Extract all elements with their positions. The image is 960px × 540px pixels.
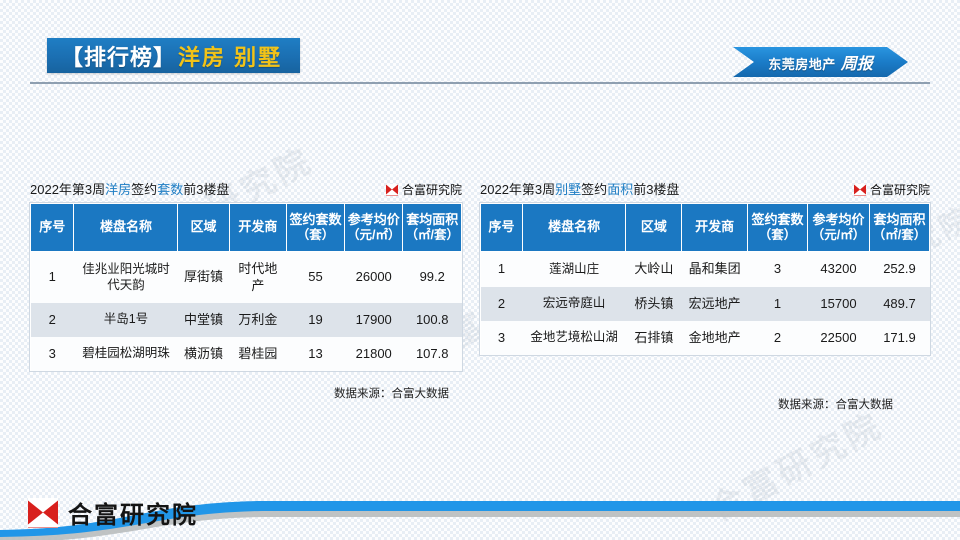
right-brand-mark: 合富研究院 [854,181,930,198]
cell-area: 大岭山 [626,252,682,287]
col-header-price: 参考均价（元/㎡） [344,204,402,252]
left-brand-label: 合富研究院 [402,181,462,198]
page-title-bracket: 【排行榜】 [61,40,176,72]
col-header-area: 区域 [178,204,229,252]
col-header-no: 序号 [481,204,523,252]
badge-cursive-label: 周报 [841,56,873,73]
right-ranking-block: 2022年第3周别墅签约面积前3楼盘 合富研究院 序号 楼盘名称 区域 开发商 … [480,178,930,355]
cell-deals: 1 [748,287,808,321]
col-header-avgsize: 套均面积（㎡/套） [869,204,929,252]
cell-developer: 时代地产 [229,252,286,303]
footer-brand-label: 合富研究院 [68,495,198,530]
slide-title-plate: 【排行榜】 洋房 别墅 [47,38,300,73]
cell-avgsize: 171.9 [869,321,929,355]
cell-price: 21800 [344,337,402,371]
cell-project: 佳兆业阳光城时代天韵 [74,252,178,303]
cell-no: 2 [481,287,523,321]
cell-project: 宏远帝庭山 [522,287,626,321]
table-row: 3 金地艺境松山湖 石排镇 金地地产 2 22500 171.9 [481,321,930,355]
cell-area: 厚街镇 [178,252,229,303]
cell-deals: 13 [287,337,345,371]
cell-deals: 2 [748,321,808,355]
col-header-price: 参考均价（元/㎡） [808,204,870,252]
cell-avgsize: 252.9 [869,252,929,287]
col-header-project: 楼盘名称 [522,204,626,252]
cell-no: 3 [481,321,523,355]
cell-no: 1 [31,252,74,303]
right-table-caption: 2022年第3周别墅签约面积前3楼盘 [480,179,679,198]
left-ranking-block: 2022年第3周洋房签约套数前3楼盘 合富研究院 序号 楼盘名称 区域 开发商 … [30,178,462,371]
cell-avgsize: 100.8 [403,303,462,337]
col-header-area: 区域 [626,204,682,252]
table-header-row: 序号 楼盘名称 区域 开发商 签约套数（套） 参考均价（元/㎡） 套均面积（㎡/… [481,204,930,252]
col-header-deals: 签约套数（套） [748,204,808,252]
table-row: 2 半岛1号 中堂镇 万利金 19 17900 100.8 [31,303,462,337]
cell-area: 横沥镇 [178,337,229,371]
right-block-header: 2022年第3周别墅签约面积前3楼盘 合富研究院 [480,178,930,198]
cell-area: 石排镇 [626,321,682,355]
cell-project: 莲湖山庄 [522,252,626,287]
table-header-row: 序号 楼盘名称 区域 开发商 签约套数（套） 参考均价（元/㎡） 套均面积（㎡/… [31,204,462,252]
cell-area: 桥头镇 [626,287,682,321]
col-header-project: 楼盘名称 [74,204,178,252]
left-table-caption: 2022年第3周洋房签约套数前3楼盘 [30,179,229,198]
publication-badge: 东莞房地产周报 [733,47,908,77]
cell-avgsize: 99.2 [403,252,462,303]
cell-project: 金地艺境松山湖 [522,321,626,355]
right-brand-label: 合富研究院 [870,181,930,198]
page-title-types: 洋房 别墅 [178,40,282,72]
col-header-developer: 开发商 [229,204,286,252]
left-block-header: 2022年第3周洋房签约套数前3楼盘 合富研究院 [30,178,462,198]
cell-price: 17900 [344,303,402,337]
cell-developer: 金地地产 [682,321,748,355]
col-header-avgsize: 套均面积（㎡/套） [403,204,462,252]
cell-project: 碧桂园松湖明珠 [74,337,178,371]
right-ranking-table: 序号 楼盘名称 区域 开发商 签约套数（套） 参考均价（元/㎡） 套均面积（㎡/… [480,203,930,355]
cell-price: 43200 [808,252,870,287]
table-row: 2 宏远帝庭山 桥头镇 宏远地产 1 15700 489.7 [481,287,930,321]
chevron-banner-shape: 东莞房地产周报 [733,47,908,77]
cell-deals: 3 [748,252,808,287]
cell-deals: 19 [287,303,345,337]
col-header-deals: 签约套数（套） [287,204,345,252]
cell-no: 3 [31,337,74,371]
cell-avgsize: 489.7 [869,287,929,321]
hopefluent-bowtie-icon [28,498,58,528]
col-header-no: 序号 [31,204,74,252]
left-brand-mark: 合富研究院 [386,181,462,198]
hopefluent-bowtie-icon [854,184,866,196]
table-row: 3 碧桂园松湖明珠 横沥镇 碧桂园 13 21800 107.8 [31,337,462,371]
cell-developer: 万利金 [229,303,286,337]
title-divider [30,82,930,84]
slide-canvas: 合富研究院 合富研究院 合富研究院 合富研究院 【排行榜】 洋房 别墅 东莞房地… [0,0,960,540]
hopefluent-bowtie-icon [386,184,398,196]
cell-avgsize: 107.8 [403,337,462,371]
cell-price: 22500 [808,321,870,355]
left-ranking-table: 序号 楼盘名称 区域 开发商 签约套数（套） 参考均价（元/㎡） 套均面积（㎡/… [30,203,462,371]
cell-developer: 碧桂园 [229,337,286,371]
cell-no: 2 [31,303,74,337]
cell-deals: 55 [287,252,345,303]
table-row: 1 莲湖山庄 大岭山 晶和集团 3 43200 252.9 [481,252,930,287]
left-source-note: 数据来源：合富大数据 [334,385,449,401]
cell-area: 中堂镇 [178,303,229,337]
table-row: 1 佳兆业阳光城时代天韵 厚街镇 时代地产 55 26000 99.2 [31,252,462,303]
cell-no: 1 [481,252,523,287]
cell-price: 26000 [344,252,402,303]
cell-price: 15700 [808,287,870,321]
footer-brand: 合富研究院 [28,495,198,530]
cell-project: 半岛1号 [74,303,178,337]
badge-label: 东莞房地产 [768,57,836,72]
cell-developer: 晶和集团 [682,252,748,287]
cell-developer: 宏远地产 [682,287,748,321]
right-source-note: 数据来源：合富大数据 [778,396,893,412]
col-header-developer: 开发商 [682,204,748,252]
